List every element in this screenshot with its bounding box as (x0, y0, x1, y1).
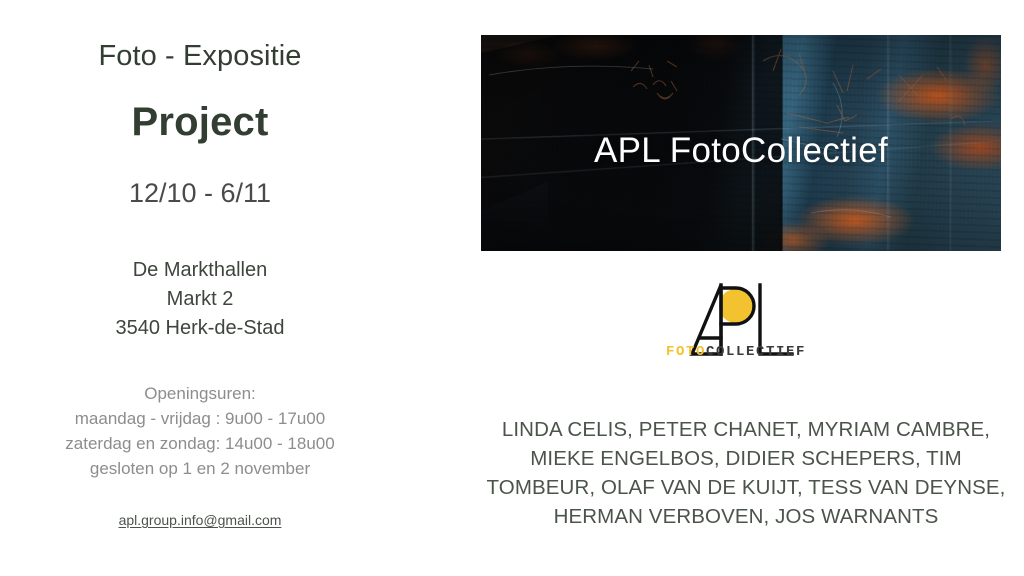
artist-list: LINDA CELIS, PETER CHANET, MYRIAM CAMBRE… (480, 415, 1012, 531)
contact-email-wrapper: apl.group.info@gmail.com (0, 512, 400, 530)
banner-caption: APL FotoCollectief (481, 131, 1001, 171)
artist-list-line: TOMBEUR, OLAF VAN DE KUIJT, TESS VAN DEY… (480, 473, 1012, 502)
opening-hours-weekend: zaterdag en zondag: 14u00 - 18u00 (0, 431, 400, 456)
logo-tagline-collectief: COLLECTIEF (706, 344, 806, 360)
eyebrow-label: Foto - Expositie (0, 40, 400, 73)
left-info-column: Foto - Expositie Project 12/10 - 6/11 De… (0, 0, 470, 576)
opening-hours-weekdays: maandag - vrijdag : 9u00 - 17u00 (0, 406, 400, 431)
venue-city: 3540 Herk-de-Stad (0, 314, 400, 343)
venue-name: De Markthallen (0, 256, 400, 285)
poster-root: Foto - Expositie Project 12/10 - 6/11 De… (0, 0, 1024, 576)
logo-tagline-foto: FOTO (666, 344, 706, 360)
venue-street: Markt 2 (0, 285, 400, 314)
exhibition-dates: 12/10 - 6/11 (0, 178, 400, 209)
artist-list-line: LINDA CELIS, PETER CHANET, MYRIAM CAMBRE… (480, 415, 1012, 444)
opening-hours: Openingsuren: maandag - vrijdag : 9u00 -… (0, 381, 400, 481)
contact-email-link[interactable]: apl.group.info@gmail.com (119, 512, 282, 528)
venue-address: De Markthallen Markt 2 3540 Herk-de-Stad (0, 256, 400, 343)
opening-hours-closed: gesloten op 1 en 2 november (0, 456, 400, 481)
apl-logo-tagline: FOTOCOLLECTIEF (470, 344, 1002, 360)
banner-image: APL FotoCollectief (481, 35, 1001, 251)
artist-list-line: HERMAN VERBOVEN, JOS WARNANTS (480, 502, 1012, 531)
right-visual-column: APL FotoCollectief (470, 0, 1024, 576)
artist-list-line: MIEKE ENGELBOS, DIDIER SCHEPERS, TIM (480, 444, 1012, 473)
opening-hours-heading: Openingsuren: (0, 381, 400, 406)
page-title: Project (0, 100, 400, 145)
